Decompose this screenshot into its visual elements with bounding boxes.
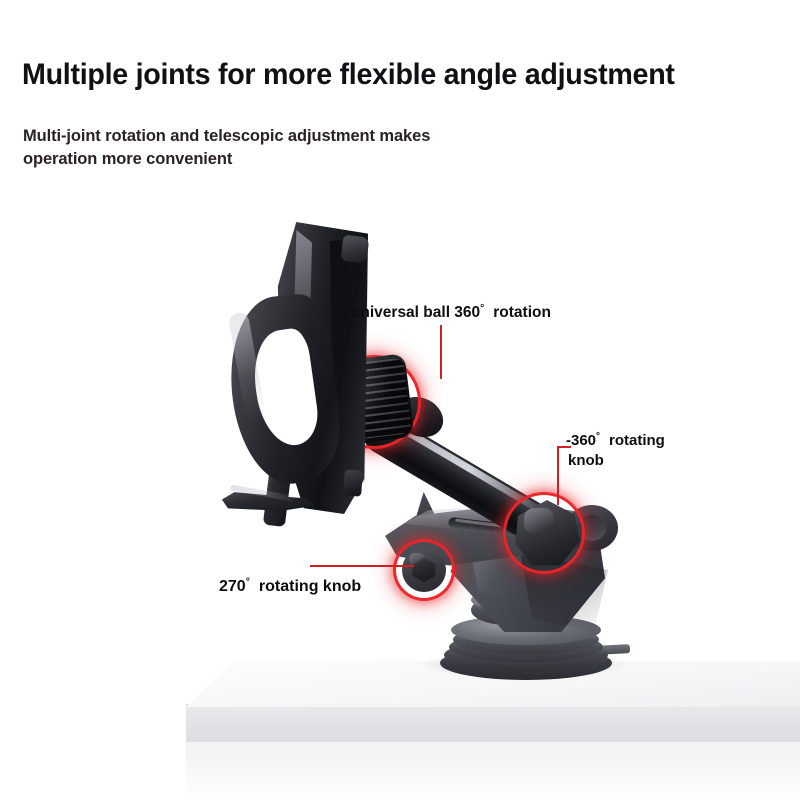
degree-symbol-icon: ° — [246, 576, 250, 588]
infographic-canvas: Multiple joints for more flexible angle … — [0, 0, 800, 800]
degree-symbol-icon: ° — [596, 431, 600, 442]
annotation-knob-360-suffix: rotating — [609, 432, 665, 449]
cradle-top-hook — [341, 235, 370, 264]
subtitle-line-2: operation more convenient — [23, 147, 430, 170]
annotation-knob-270-prefix: 270 — [219, 578, 246, 595]
annotation-ball-joint: 1 universal ball 360°rotation — [338, 303, 551, 323]
rotating-knob-highlight — [524, 508, 554, 534]
subtitle-line-1: Multi-joint rotation and telescopic adju… — [23, 124, 430, 147]
annotation-knob-270: 270°rotating knob — [219, 577, 361, 597]
shelf-drop-shadow — [186, 741, 800, 799]
annotation-knob-270-suffix: rotating knob — [259, 578, 361, 595]
annotation-ball-joint-prefix: 1 universal ball 360 — [338, 304, 480, 321]
leader-line-ball-joint — [440, 325, 442, 379]
annotation-ball-joint-suffix: rotation — [493, 304, 551, 321]
leader-line-knob270 — [310, 565, 414, 567]
cradle-side-nub — [343, 469, 363, 496]
shelf-front-face — [186, 706, 800, 742]
annotation-knob-360-line2: knob — [568, 451, 665, 471]
page-title: Multiple joints for more flexible angle … — [22, 58, 675, 92]
teardrop-side-arm — [232, 296, 336, 484]
clamp-eye-inner — [578, 515, 606, 541]
annotation-knob-360-prefix: -360 — [566, 432, 596, 449]
annotation-knob-360: -360°rotating knob — [566, 431, 665, 471]
page-subtitle: Multi-joint rotation and telescopic adju… — [23, 124, 430, 170]
degree-symbol-icon: ° — [480, 303, 484, 314]
leader-line-knob360-vertical — [557, 447, 559, 505]
locking-bolt-highlight — [409, 553, 425, 565]
